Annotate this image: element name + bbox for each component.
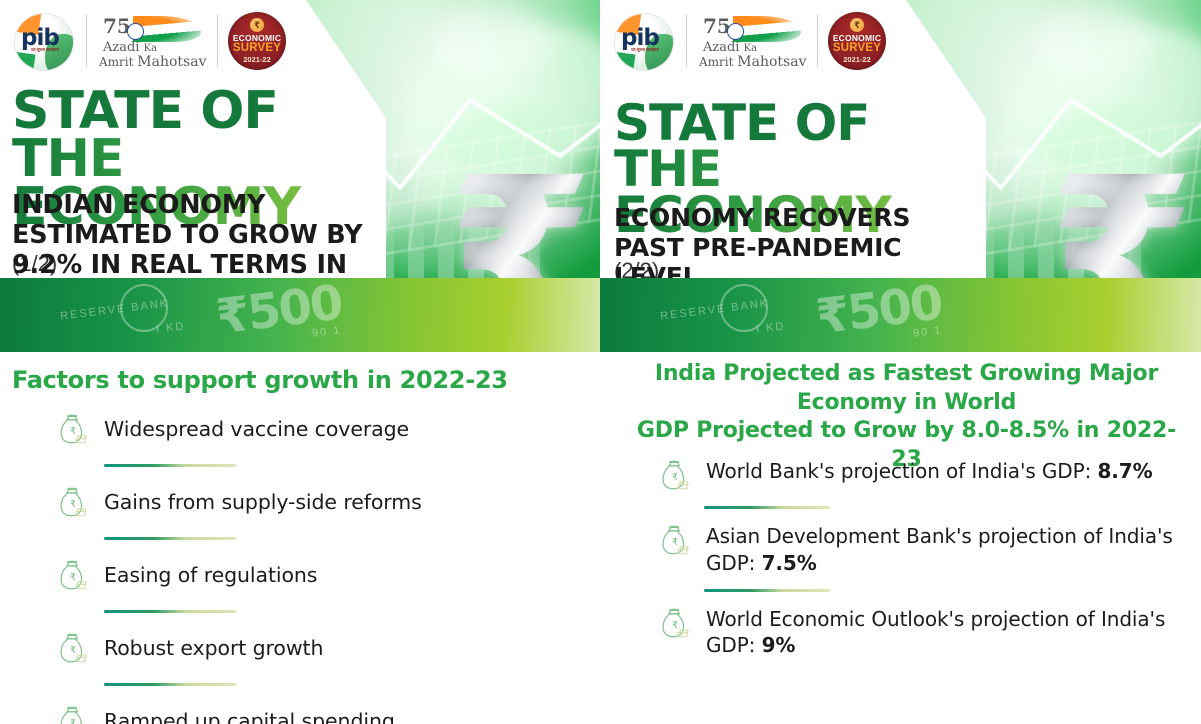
survey-line-3: 2021-22: [828, 55, 886, 64]
note-text-3: 90 1: [912, 324, 943, 339]
infographic-card-2: ₹ ₹500 RESERVE BANK I KD 90 1 pib पत्र स…: [600, 0, 1201, 724]
logo-row-1: pib पत्र सूचना कार्यालय 75 Azadi Ka Amri…: [14, 8, 286, 74]
svg-text:₹: ₹: [672, 620, 678, 631]
list-item-label: Widespread vaccine coverage: [104, 416, 409, 443]
list-item-label: World Bank's projection of India's GDP: …: [706, 458, 1153, 485]
money-bag-icon: ₹: [56, 631, 90, 667]
list-item-value: 8.7%: [1097, 459, 1152, 483]
note-text-3: 90 1: [311, 324, 342, 339]
list-divider: [704, 506, 830, 509]
pen-highlight: [432, 8, 552, 78]
svg-text:₹: ₹: [70, 426, 76, 437]
projections-list: ₹ World Bank's projection of India's GDP…: [658, 458, 1201, 659]
list-item: ₹ World Economic Outlook's projection of…: [658, 606, 1201, 660]
economic-survey-badge-icon: ₹ ECONOMIC SURVEY 2021-22: [228, 12, 286, 70]
card-body-2: India Projected as Fastest Growing Major…: [600, 352, 1201, 724]
list-divider: [104, 683, 236, 686]
svg-text:₹: ₹: [70, 718, 76, 724]
headline-plate-2: pib पत्र सूचना कार्यालय 75 Azadi Ka Amri…: [600, 0, 988, 278]
money-bag-icon: ₹: [56, 704, 90, 724]
headline-plate-1: pib पत्र सूचना कार्यालय 75 Azadi Ka Amri…: [0, 0, 390, 278]
azadi-ka-amrit-mahotsav-logo-icon: 75 Azadi Ka Amrit Mahotsav: [697, 12, 807, 70]
list-item-value: 7.5%: [762, 551, 817, 575]
note-text-2: I KD: [756, 320, 787, 335]
list-divider: [104, 464, 236, 467]
survey-line-2: SURVEY: [828, 42, 886, 54]
banner-artwork-1: ₹ ₹500 RESERVE BANK I KD 90 1 pib पत्र स…: [0, 0, 600, 352]
list-divider: [104, 537, 236, 540]
logo-row-2: pib पत्र सूचना कार्यालय 75 Azadi Ka Amri…: [614, 8, 886, 74]
list-item: ₹ Gains from supply-side reforms: [56, 481, 600, 525]
amrit-line-1: Azadi Ka: [103, 40, 157, 55]
economic-survey-badge-icon: ₹ ECONOMIC SURVEY 2021-22: [828, 12, 886, 70]
list-item-label: Asian Development Bank's projection of I…: [706, 523, 1201, 577]
list-divider: [704, 589, 830, 592]
list-divider: [104, 610, 236, 613]
survey-line-2: SURVEY: [228, 42, 286, 54]
banner-artwork-2: ₹ ₹500 RESERVE BANK I KD 90 1 pib पत्र स…: [600, 0, 1201, 352]
note-text-2: I KD: [155, 320, 186, 335]
list-item: ₹ World Bank's projection of India's GDP…: [658, 458, 1201, 494]
ashoka-chakra-icon: [127, 23, 144, 40]
azadi-ka-amrit-mahotsav-logo-icon: 75 Azadi Ka Amrit Mahotsav: [97, 12, 207, 70]
list-item: ₹ Asian Development Bank's projection of…: [658, 523, 1201, 577]
list-item-label: Ramped up capital spending: [104, 708, 395, 724]
logo-divider-2: [817, 15, 818, 67]
money-bag-icon: ₹: [658, 523, 692, 559]
section-heading-line-1: India Projected as Fastest Growing Major: [624, 360, 1189, 389]
factors-list: ₹ Widespread vaccine coverage ₹: [56, 408, 600, 724]
amrit-line-1: Azadi Ka: [703, 40, 757, 55]
svg-text:₹: ₹: [70, 572, 76, 583]
pib-logo-icon: pib पत्र सूचना कार्यालय: [614, 11, 676, 71]
list-item: ₹ Easing of regulations: [56, 554, 600, 598]
logo-divider-1: [686, 15, 687, 67]
coin-icon: ₹: [850, 18, 864, 32]
list-item: ₹ Robust export growth: [56, 627, 600, 671]
currency-notes-strip: ₹500 RESERVE BANK I KD 90 1: [600, 278, 1201, 352]
money-bag-icon: ₹: [56, 485, 90, 521]
currency-notes-strip: ₹500 RESERVE BANK I KD 90 1: [0, 278, 600, 352]
list-item-label: World Economic Outlook's projection of I…: [706, 606, 1201, 660]
logo-divider-2: [217, 15, 218, 67]
infographic-card-1: ₹ ₹500 RESERVE BANK I KD 90 1 pib पत्र स…: [0, 0, 600, 724]
amrit-line-2: Amrit Mahotsav: [99, 54, 206, 70]
pib-logo-icon: pib पत्र सूचना कार्यालय: [14, 11, 76, 71]
money-bag-icon: ₹: [56, 412, 90, 448]
svg-text:₹: ₹: [672, 537, 678, 548]
card-body-1: Factors to support growth in 2022-23 ₹ W…: [0, 352, 600, 724]
survey-line-3: 2021-22: [228, 55, 286, 64]
amrit-line-2: Amrit Mahotsav: [699, 54, 806, 70]
infographic-stage: ₹ ₹500 RESERVE BANK I KD 90 1 pib पत्र स…: [0, 0, 1201, 724]
list-item-label: Robust export growth: [104, 635, 323, 662]
money-bag-icon: ₹: [658, 458, 692, 494]
list-item-label: Gains from supply-side reforms: [104, 489, 422, 516]
money-bag-icon: ₹: [56, 558, 90, 594]
section-heading-1: Factors to support growth in 2022-23: [12, 366, 508, 394]
svg-text:₹: ₹: [672, 472, 678, 483]
svg-text:₹: ₹: [70, 499, 76, 510]
pib-sublabel: पत्र सूचना कार्यालय: [619, 47, 671, 53]
list-item-value: 9%: [762, 633, 796, 657]
list-item-label: Easing of regulations: [104, 562, 317, 589]
money-bag-icon: ₹: [658, 606, 692, 642]
pen-highlight: [1033, 8, 1153, 78]
list-item: ₹ Ramped up capital spending: [56, 700, 600, 724]
coin-icon: ₹: [250, 18, 264, 32]
section-heading-line-2: Economy in World: [624, 389, 1189, 418]
ashoka-chakra-icon: [727, 23, 744, 40]
svg-text:₹: ₹: [70, 645, 76, 656]
list-item: ₹ Widespread vaccine coverage: [56, 408, 600, 452]
logo-divider-1: [86, 15, 87, 67]
pib-sublabel: पत्र सूचना कार्यालय: [19, 47, 71, 53]
